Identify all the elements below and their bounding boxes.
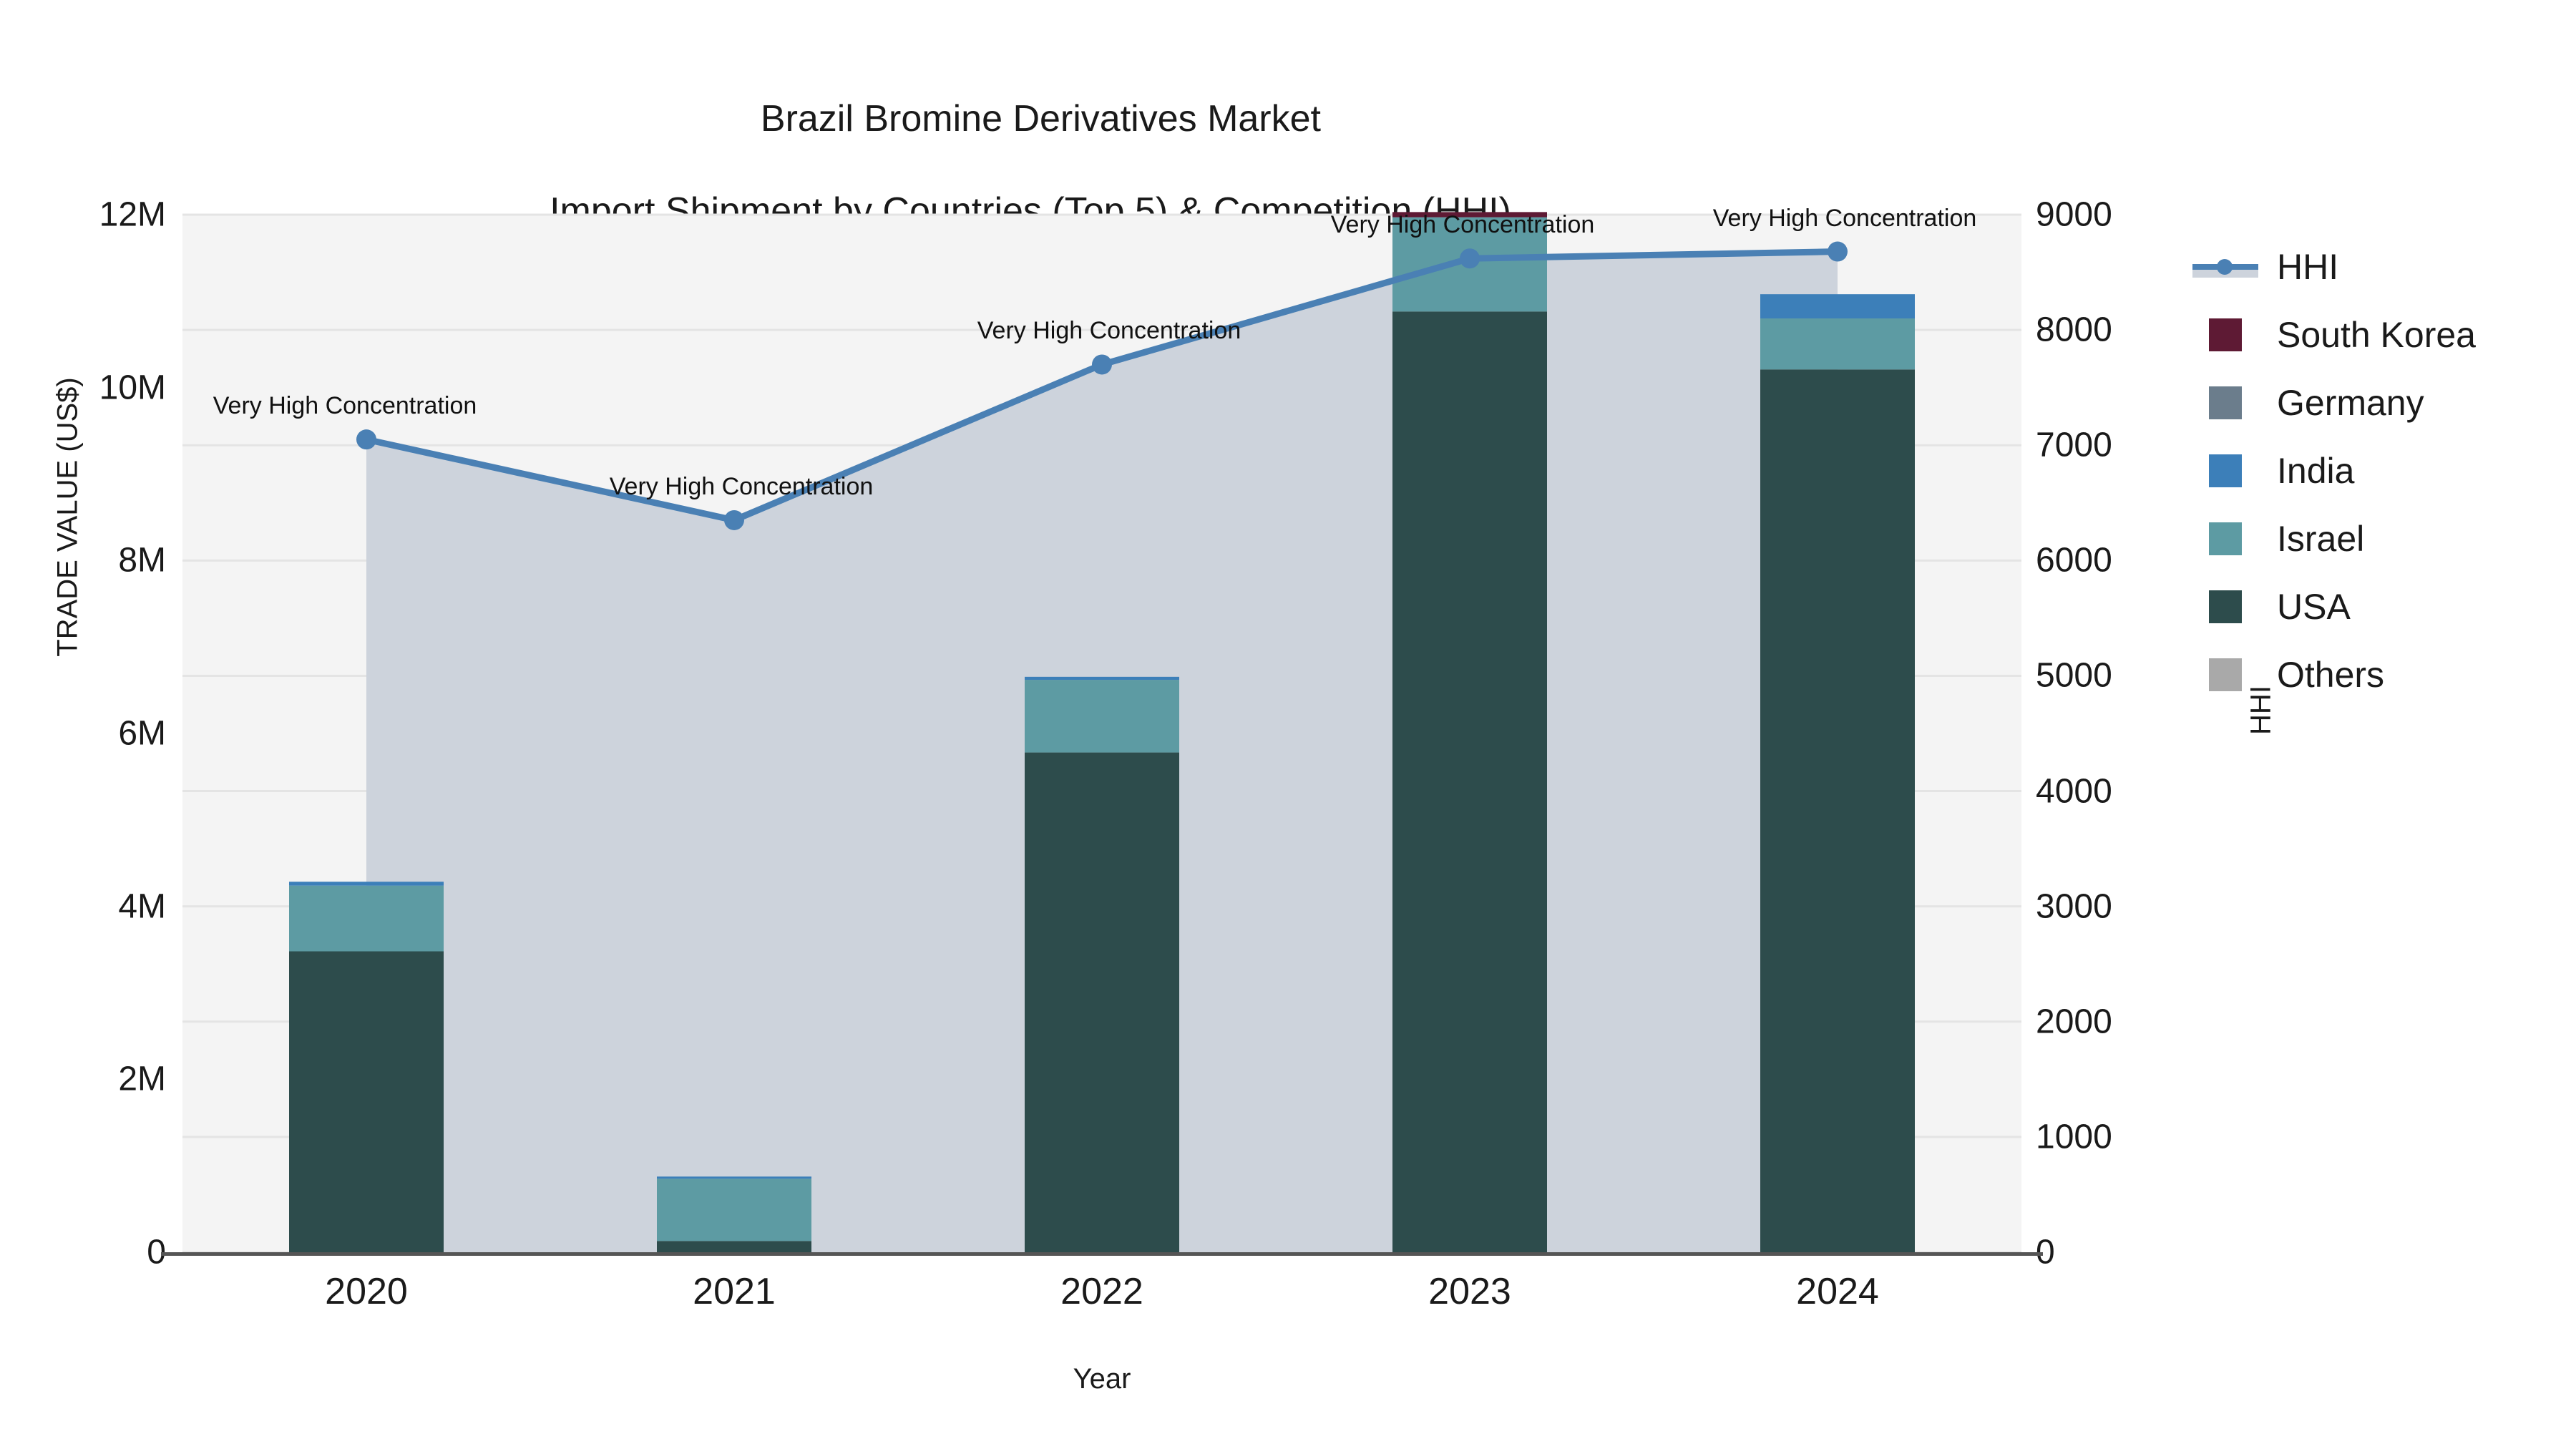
- x-axis-tick-label: 2021: [693, 1270, 776, 1313]
- legend-marker-dot: [2217, 259, 2233, 275]
- legend-item-usa[interactable]: USA: [2190, 572, 2562, 640]
- legend-swatch-container: [2190, 590, 2261, 623]
- legend-item-others[interactable]: Others: [2190, 640, 2562, 708]
- legend-swatch-container: [2190, 522, 2261, 555]
- chart-legend: HHISouth KoreaGermanyIndiaIsraelUSAOther…: [2190, 233, 2562, 708]
- legend-color-swatch: [2209, 522, 2242, 555]
- legend-swatch-container: [2190, 253, 2261, 281]
- legend-item-label: HHI: [2277, 246, 2338, 288]
- legend-swatch-container: [2190, 658, 2261, 691]
- x-axis-tick-label: 2023: [1428, 1270, 1511, 1313]
- legend-item-hhi[interactable]: HHI: [2190, 233, 2562, 301]
- x-axis-ticks: 20202021202220232024: [0, 0, 2576, 1449]
- x-axis-tick-label: 2024: [1796, 1270, 1879, 1313]
- legend-item-india[interactable]: India: [2190, 436, 2562, 504]
- legend-item-south-korea[interactable]: South Korea: [2190, 301, 2562, 369]
- legend-swatch-container: [2190, 386, 2261, 419]
- legend-item-label: Germany: [2277, 382, 2424, 424]
- legend-item-label: India: [2277, 450, 2354, 492]
- legend-color-swatch: [2209, 590, 2242, 623]
- legend-color-swatch: [2209, 454, 2242, 487]
- x-axis-tick-label: 2020: [325, 1270, 408, 1313]
- legend-line-swatch: [2192, 253, 2258, 281]
- x-axis-title: Year: [182, 1363, 2021, 1395]
- x-axis-tick-label: 2022: [1060, 1270, 1143, 1313]
- legend-item-israel[interactable]: Israel: [2190, 504, 2562, 572]
- legend-color-swatch: [2209, 658, 2242, 691]
- legend-color-swatch: [2209, 386, 2242, 419]
- legend-item-germany[interactable]: Germany: [2190, 369, 2562, 436]
- legend-item-label: Israel: [2277, 518, 2364, 560]
- legend-swatch-container: [2190, 318, 2261, 351]
- x-axis-line: [161, 1252, 2043, 1256]
- legend-color-swatch: [2209, 318, 2242, 351]
- legend-item-label: South Korea: [2277, 314, 2476, 356]
- legend-item-label: Others: [2277, 654, 2384, 696]
- y-axis-left-title: TRADE VALUE (US$): [52, 195, 84, 839]
- legend-swatch-container: [2190, 454, 2261, 487]
- legend-item-label: USA: [2277, 586, 2351, 628]
